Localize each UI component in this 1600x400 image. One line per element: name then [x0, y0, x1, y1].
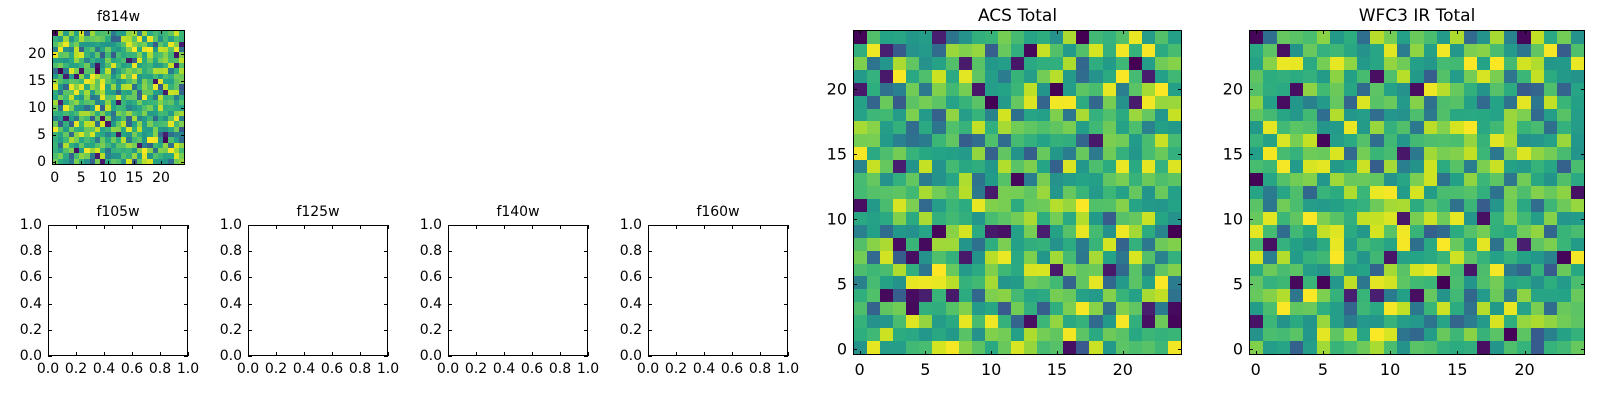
x-tick-mark — [188, 352, 189, 356]
x-tick-mark-top — [388, 225, 389, 229]
y-tick-mark-right — [384, 277, 388, 278]
y-tick-label: 5 — [1233, 274, 1249, 293]
y-tick-label: 10 — [827, 209, 853, 228]
x-tick-mark-top — [532, 225, 533, 229]
x-tick-label: 15 — [1447, 355, 1467, 379]
y-tick-mark-right — [1581, 89, 1585, 90]
x-tick-mark — [134, 161, 135, 165]
y-tick-mark-right — [184, 304, 188, 305]
axes-title-acs-total: ACS Total — [853, 6, 1182, 26]
x-tick-label: 0.2 — [465, 356, 487, 377]
x-tick-mark — [1457, 351, 1458, 355]
y-tick-label: 15 — [827, 144, 853, 163]
y-tick-label: 20 — [1223, 79, 1249, 98]
y-tick-label: 0 — [837, 339, 853, 358]
x-tick-mark-top — [276, 225, 277, 229]
y-tick-mark — [448, 277, 452, 278]
x-tick-mark — [360, 352, 361, 356]
y-tick-mark-right — [184, 277, 188, 278]
x-tick-mark — [448, 352, 449, 356]
y-tick-label: 15 — [1223, 144, 1249, 163]
y-tick-mark-right — [1178, 89, 1182, 90]
x-tick-mark-top — [1256, 30, 1257, 34]
y-tick-mark-right — [181, 162, 185, 163]
y-tick-mark — [853, 219, 857, 220]
y-tick-mark — [853, 154, 857, 155]
x-tick-label: 20 — [1514, 355, 1534, 379]
x-tick-mark — [1256, 351, 1257, 355]
y-tick-mark-right — [384, 330, 388, 331]
axes-wfc3-ir-total[interactable]: WFC3 IR Total 0510152005101520 — [1249, 30, 1585, 355]
y-tick-mark — [1249, 89, 1253, 90]
x-tick-label: 0.2 — [265, 356, 287, 377]
x-tick-mark — [991, 351, 992, 355]
axes-ticks-f140w: 0.00.20.40.60.81.00.00.20.40.60.81.0 — [448, 225, 588, 356]
y-tick-mark-right — [784, 330, 788, 331]
x-tick-mark-top — [760, 225, 761, 229]
y-tick-label: 10 — [1223, 209, 1249, 228]
axes-ticks-f160w: 0.00.20.40.60.81.00.00.20.40.60.81.0 — [648, 225, 788, 356]
x-tick-label: 15 — [1047, 355, 1067, 379]
x-tick-mark-top — [332, 225, 333, 229]
x-tick-mark — [560, 352, 561, 356]
x-tick-label: 0.8 — [549, 356, 571, 377]
y-tick-label: 0.8 — [220, 243, 248, 259]
y-tick-label: 10 — [28, 100, 52, 116]
x-tick-mark — [81, 161, 82, 165]
x-tick-mark-top — [925, 30, 926, 34]
x-tick-mark-top — [132, 225, 133, 229]
x-tick-mark-top — [81, 30, 82, 34]
x-tick-mark — [788, 352, 789, 356]
x-tick-mark-top — [48, 225, 49, 229]
y-tick-label: 20 — [28, 46, 52, 62]
x-tick-label: 5 — [77, 165, 86, 186]
y-tick-mark-right — [584, 330, 588, 331]
y-tick-mark-right — [1178, 349, 1182, 350]
axes-f814w[interactable]: f814w 0510152005101520 — [52, 30, 185, 165]
y-tick-mark — [52, 54, 56, 55]
x-tick-mark — [104, 352, 105, 356]
y-tick-mark — [648, 277, 652, 278]
y-tick-mark — [853, 349, 857, 350]
x-tick-mark-top — [860, 30, 861, 34]
y-tick-mark — [48, 277, 52, 278]
x-tick-label: 0 — [1251, 355, 1261, 379]
y-tick-mark-right — [181, 54, 185, 55]
y-tick-label: 0.2 — [620, 322, 648, 338]
y-tick-label: 20 — [827, 79, 853, 98]
y-tick-label: 0.2 — [20, 322, 48, 338]
y-tick-mark — [648, 251, 652, 252]
x-tick-mark-top — [560, 225, 561, 229]
x-tick-label: 0.0 — [37, 356, 59, 377]
axes-ticks-f125w: 0.00.20.40.60.81.00.00.20.40.60.81.0 — [248, 225, 388, 356]
x-tick-label: 0.6 — [721, 356, 743, 377]
x-tick-mark-top — [476, 225, 477, 229]
x-tick-label: 0.2 — [665, 356, 687, 377]
y-tick-label: 5 — [37, 127, 52, 143]
y-tick-mark-right — [1581, 349, 1585, 350]
y-tick-mark-right — [584, 251, 588, 252]
x-tick-label: 0.4 — [493, 356, 515, 377]
x-tick-mark — [648, 352, 649, 356]
y-tick-label: 0.2 — [420, 322, 448, 338]
x-tick-label: 1.0 — [377, 356, 399, 377]
x-tick-mark — [504, 352, 505, 356]
axes-title-f160w: f160w — [648, 204, 788, 220]
y-tick-label: 5 — [837, 274, 853, 293]
x-tick-mark — [108, 161, 109, 165]
axes-title-f140w: f140w — [448, 204, 588, 220]
x-tick-mark-top — [676, 225, 677, 229]
x-tick-mark-top — [1123, 30, 1124, 34]
x-tick-label: 20 — [1113, 355, 1133, 379]
y-tick-label: 0.2 — [220, 322, 248, 338]
x-tick-mark-top — [248, 225, 249, 229]
x-tick-label: 10 — [99, 165, 117, 186]
axes-title-f125w: f125w — [248, 204, 388, 220]
y-tick-mark-right — [181, 135, 185, 136]
y-tick-mark — [1249, 349, 1253, 350]
x-tick-mark — [76, 352, 77, 356]
axes-ticks-f105w: 0.00.20.40.60.81.00.00.20.40.60.81.0 — [48, 225, 188, 356]
x-tick-mark-top — [188, 225, 189, 229]
y-tick-mark — [448, 304, 452, 305]
y-tick-mark — [48, 251, 52, 252]
x-tick-label: 5 — [920, 355, 930, 379]
y-tick-mark — [648, 330, 652, 331]
x-tick-mark — [48, 352, 49, 356]
y-tick-mark — [448, 330, 452, 331]
x-tick-mark-top — [360, 225, 361, 229]
x-tick-label: 0 — [854, 355, 864, 379]
axes-ticks-f814w: 0510152005101520 — [52, 30, 185, 165]
axes-f125w[interactable]: f125w 0.00.20.40.60.81.00.00.20.40.60.81… — [248, 225, 388, 356]
x-tick-mark — [248, 352, 249, 356]
x-tick-label: 0.8 — [749, 356, 771, 377]
axes-acs-total[interactable]: ACS Total 0510152005101520 — [853, 30, 1182, 355]
y-tick-mark — [248, 251, 252, 252]
x-tick-mark — [1123, 351, 1124, 355]
x-tick-mark — [332, 352, 333, 356]
x-tick-mark — [1057, 351, 1058, 355]
x-tick-mark — [388, 352, 389, 356]
x-tick-mark-top — [160, 225, 161, 229]
x-tick-mark-top — [104, 225, 105, 229]
x-tick-label: 10 — [1380, 355, 1400, 379]
x-tick-mark — [55, 161, 56, 165]
axes-f140w[interactable]: f140w 0.00.20.40.60.81.00.00.20.40.60.81… — [448, 225, 588, 356]
x-tick-mark-top — [304, 225, 305, 229]
x-tick-label: 0.8 — [349, 356, 371, 377]
y-tick-mark-right — [784, 277, 788, 278]
x-tick-label: 0 — [50, 165, 59, 186]
y-tick-label: 0.4 — [20, 296, 48, 312]
x-tick-label: 0.4 — [693, 356, 715, 377]
x-tick-label: 0.6 — [121, 356, 143, 377]
x-tick-label: 15 — [126, 165, 144, 186]
y-tick-mark — [853, 284, 857, 285]
y-tick-label: 0.6 — [620, 269, 648, 285]
x-tick-label: 10 — [981, 355, 1001, 379]
x-tick-mark — [676, 352, 677, 356]
x-tick-mark-top — [588, 225, 589, 229]
y-tick-mark-right — [584, 304, 588, 305]
y-tick-mark-right — [181, 108, 185, 109]
y-tick-mark — [648, 304, 652, 305]
x-tick-mark — [925, 351, 926, 355]
x-tick-mark — [1323, 351, 1324, 355]
y-tick-mark-right — [784, 251, 788, 252]
y-tick-mark — [48, 304, 52, 305]
x-tick-label: 0.8 — [149, 356, 171, 377]
y-tick-label: 15 — [28, 73, 52, 89]
x-tick-mark-top — [1057, 30, 1058, 34]
axes-f160w[interactable]: f160w 0.00.20.40.60.81.00.00.20.40.60.81… — [648, 225, 788, 356]
x-tick-label: 0.6 — [321, 356, 343, 377]
x-tick-mark — [1525, 351, 1526, 355]
x-tick-mark — [1390, 351, 1391, 355]
x-tick-mark-top — [991, 30, 992, 34]
x-tick-label: 0.4 — [93, 356, 115, 377]
y-tick-mark — [1249, 284, 1253, 285]
x-tick-label: 0.6 — [521, 356, 543, 377]
y-tick-mark — [52, 135, 56, 136]
y-tick-mark-right — [1178, 154, 1182, 155]
x-tick-mark-top — [1525, 30, 1526, 34]
x-tick-mark-top — [134, 30, 135, 34]
y-tick-mark — [448, 251, 452, 252]
x-tick-mark — [732, 352, 733, 356]
y-tick-mark-right — [1581, 154, 1585, 155]
x-tick-label: 1.0 — [777, 356, 799, 377]
x-tick-mark-top — [1457, 30, 1458, 34]
x-tick-mark-top — [108, 30, 109, 34]
y-tick-mark — [248, 277, 252, 278]
axes-title-f814w: f814w — [52, 9, 185, 25]
x-tick-mark — [476, 352, 477, 356]
y-tick-label: 0.8 — [620, 243, 648, 259]
x-tick-label: 0.0 — [437, 356, 459, 377]
x-tick-mark-top — [704, 225, 705, 229]
x-tick-mark — [304, 352, 305, 356]
y-tick-label: 1.0 — [220, 217, 248, 233]
y-tick-mark-right — [384, 251, 388, 252]
axes-title-wfc3-ir-total: WFC3 IR Total — [1249, 6, 1585, 26]
axes-title-f105w: f105w — [48, 204, 188, 220]
x-tick-mark-top — [1323, 30, 1324, 34]
x-tick-mark — [532, 352, 533, 356]
y-tick-mark — [1249, 154, 1253, 155]
x-tick-mark-top — [55, 30, 56, 34]
y-tick-label: 1.0 — [420, 217, 448, 233]
y-tick-mark — [48, 330, 52, 331]
y-tick-mark-right — [384, 304, 388, 305]
x-tick-mark — [588, 352, 589, 356]
y-tick-label: 0.6 — [20, 269, 48, 285]
matplotlib-figure: f814w 0510152005101520 f105w 0.00.20.40.… — [0, 0, 1600, 400]
x-tick-mark-top — [448, 225, 449, 229]
x-tick-label: 0.4 — [293, 356, 315, 377]
x-tick-mark-top — [161, 30, 162, 34]
y-tick-mark-right — [784, 304, 788, 305]
y-tick-mark-right — [584, 277, 588, 278]
y-tick-mark — [248, 304, 252, 305]
y-tick-mark-right — [1178, 284, 1182, 285]
x-tick-mark — [760, 352, 761, 356]
y-tick-label: 0.8 — [20, 243, 48, 259]
x-tick-mark — [276, 352, 277, 356]
y-tick-label: 0.6 — [220, 269, 248, 285]
axes-ticks-wfc3-ir-total: 0510152005101520 — [1249, 30, 1585, 355]
x-tick-label: 1.0 — [177, 356, 199, 377]
y-tick-label: 0.4 — [220, 296, 248, 312]
x-tick-label: 1.0 — [577, 356, 599, 377]
y-tick-mark-right — [1581, 219, 1585, 220]
x-tick-mark — [132, 352, 133, 356]
y-tick-mark — [1249, 219, 1253, 220]
x-tick-mark — [161, 161, 162, 165]
axes-ticks-acs-total: 0510152005101520 — [853, 30, 1182, 355]
y-tick-label: 0.4 — [420, 296, 448, 312]
y-tick-mark-right — [1178, 219, 1182, 220]
y-tick-mark — [52, 81, 56, 82]
x-tick-mark-top — [504, 225, 505, 229]
y-tick-mark-right — [181, 81, 185, 82]
y-tick-mark-right — [1581, 284, 1585, 285]
y-tick-mark-right — [184, 330, 188, 331]
y-tick-label: 0 — [1233, 339, 1249, 358]
x-tick-mark-top — [648, 225, 649, 229]
x-tick-mark-top — [732, 225, 733, 229]
y-tick-label: 0.6 — [420, 269, 448, 285]
x-tick-mark-top — [788, 225, 789, 229]
x-tick-label: 0.2 — [65, 356, 87, 377]
y-tick-label: 0.4 — [620, 296, 648, 312]
y-tick-mark — [52, 108, 56, 109]
y-tick-label: 1.0 — [20, 217, 48, 233]
x-tick-mark-top — [76, 225, 77, 229]
y-tick-mark — [248, 330, 252, 331]
y-tick-mark — [853, 89, 857, 90]
x-tick-label: 0.0 — [237, 356, 259, 377]
x-tick-mark — [860, 351, 861, 355]
y-tick-label: 0.8 — [420, 243, 448, 259]
x-tick-mark — [704, 352, 705, 356]
x-tick-mark-top — [1390, 30, 1391, 34]
y-tick-label: 1.0 — [620, 217, 648, 233]
axes-f105w[interactable]: f105w 0.00.20.40.60.81.00.00.20.40.60.81… — [48, 225, 188, 356]
x-tick-label: 20 — [152, 165, 170, 186]
x-tick-label: 5 — [1318, 355, 1328, 379]
x-tick-label: 0.0 — [637, 356, 659, 377]
x-tick-mark — [160, 352, 161, 356]
y-tick-mark-right — [184, 251, 188, 252]
